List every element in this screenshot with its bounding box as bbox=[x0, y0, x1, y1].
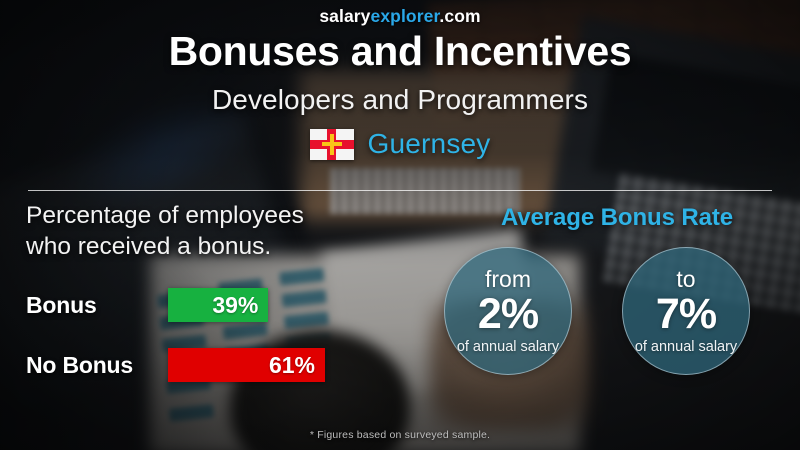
bar-bonus: 39% bbox=[168, 288, 268, 322]
page-subtitle: Developers and Programmers bbox=[0, 84, 800, 116]
bonus-rate-circle-to: to 7% of annual salary bbox=[622, 247, 750, 375]
country-row: Guernsey bbox=[0, 128, 800, 160]
lead-line-1: Percentage of employees bbox=[26, 200, 446, 231]
circle-from-prefix: from bbox=[485, 268, 531, 291]
logo-part-explorer: explorer bbox=[371, 6, 440, 26]
footnote: * Figures based on surveyed sample. bbox=[0, 429, 800, 441]
circle-to-value: 7% bbox=[656, 292, 716, 337]
circle-from-caption: of annual salary bbox=[457, 340, 559, 355]
poster-content: salaryexplorer.com Bonuses and Incentive… bbox=[0, 0, 800, 450]
logo-part-salary: salary bbox=[319, 6, 370, 26]
bonus-bar-chart: Bonus 39% No Bonus 61% bbox=[26, 288, 356, 382]
bonus-rate-circles: from 2% of annual salary to 7% of annual… bbox=[430, 247, 775, 382]
lead-text: Percentage of employees who received a b… bbox=[26, 200, 446, 263]
bar-label-bonus: Bonus bbox=[26, 292, 168, 319]
country-name: Guernsey bbox=[368, 128, 491, 160]
circle-to-caption: of annual salary bbox=[635, 340, 737, 355]
infographic-poster: salaryexplorer.com Bonuses and Incentive… bbox=[0, 0, 800, 450]
circle-from-value: 2% bbox=[478, 292, 538, 337]
circle-to-prefix: to bbox=[676, 268, 695, 291]
bar-value-no-bonus: 61% bbox=[269, 352, 315, 379]
lead-line-2: who received a bonus. bbox=[26, 231, 446, 262]
average-bonus-rate-title: Average Bonus Rate bbox=[452, 204, 782, 232]
guernsey-flag-icon bbox=[310, 129, 354, 160]
logo-part-tld: .com bbox=[439, 6, 480, 26]
bonus-rate-circle-from: from 2% of annual salary bbox=[444, 247, 572, 375]
bar-row-no-bonus: No Bonus 61% bbox=[26, 348, 356, 382]
header-divider bbox=[28, 190, 772, 191]
bar-value-bonus: 39% bbox=[212, 292, 258, 319]
bar-label-no-bonus: No Bonus bbox=[26, 352, 168, 379]
bar-no-bonus: 61% bbox=[168, 348, 325, 382]
bar-row-bonus: Bonus 39% bbox=[26, 288, 356, 322]
page-title: Bonuses and Incentives bbox=[0, 28, 800, 75]
site-logo[interactable]: salaryexplorer.com bbox=[0, 6, 800, 27]
